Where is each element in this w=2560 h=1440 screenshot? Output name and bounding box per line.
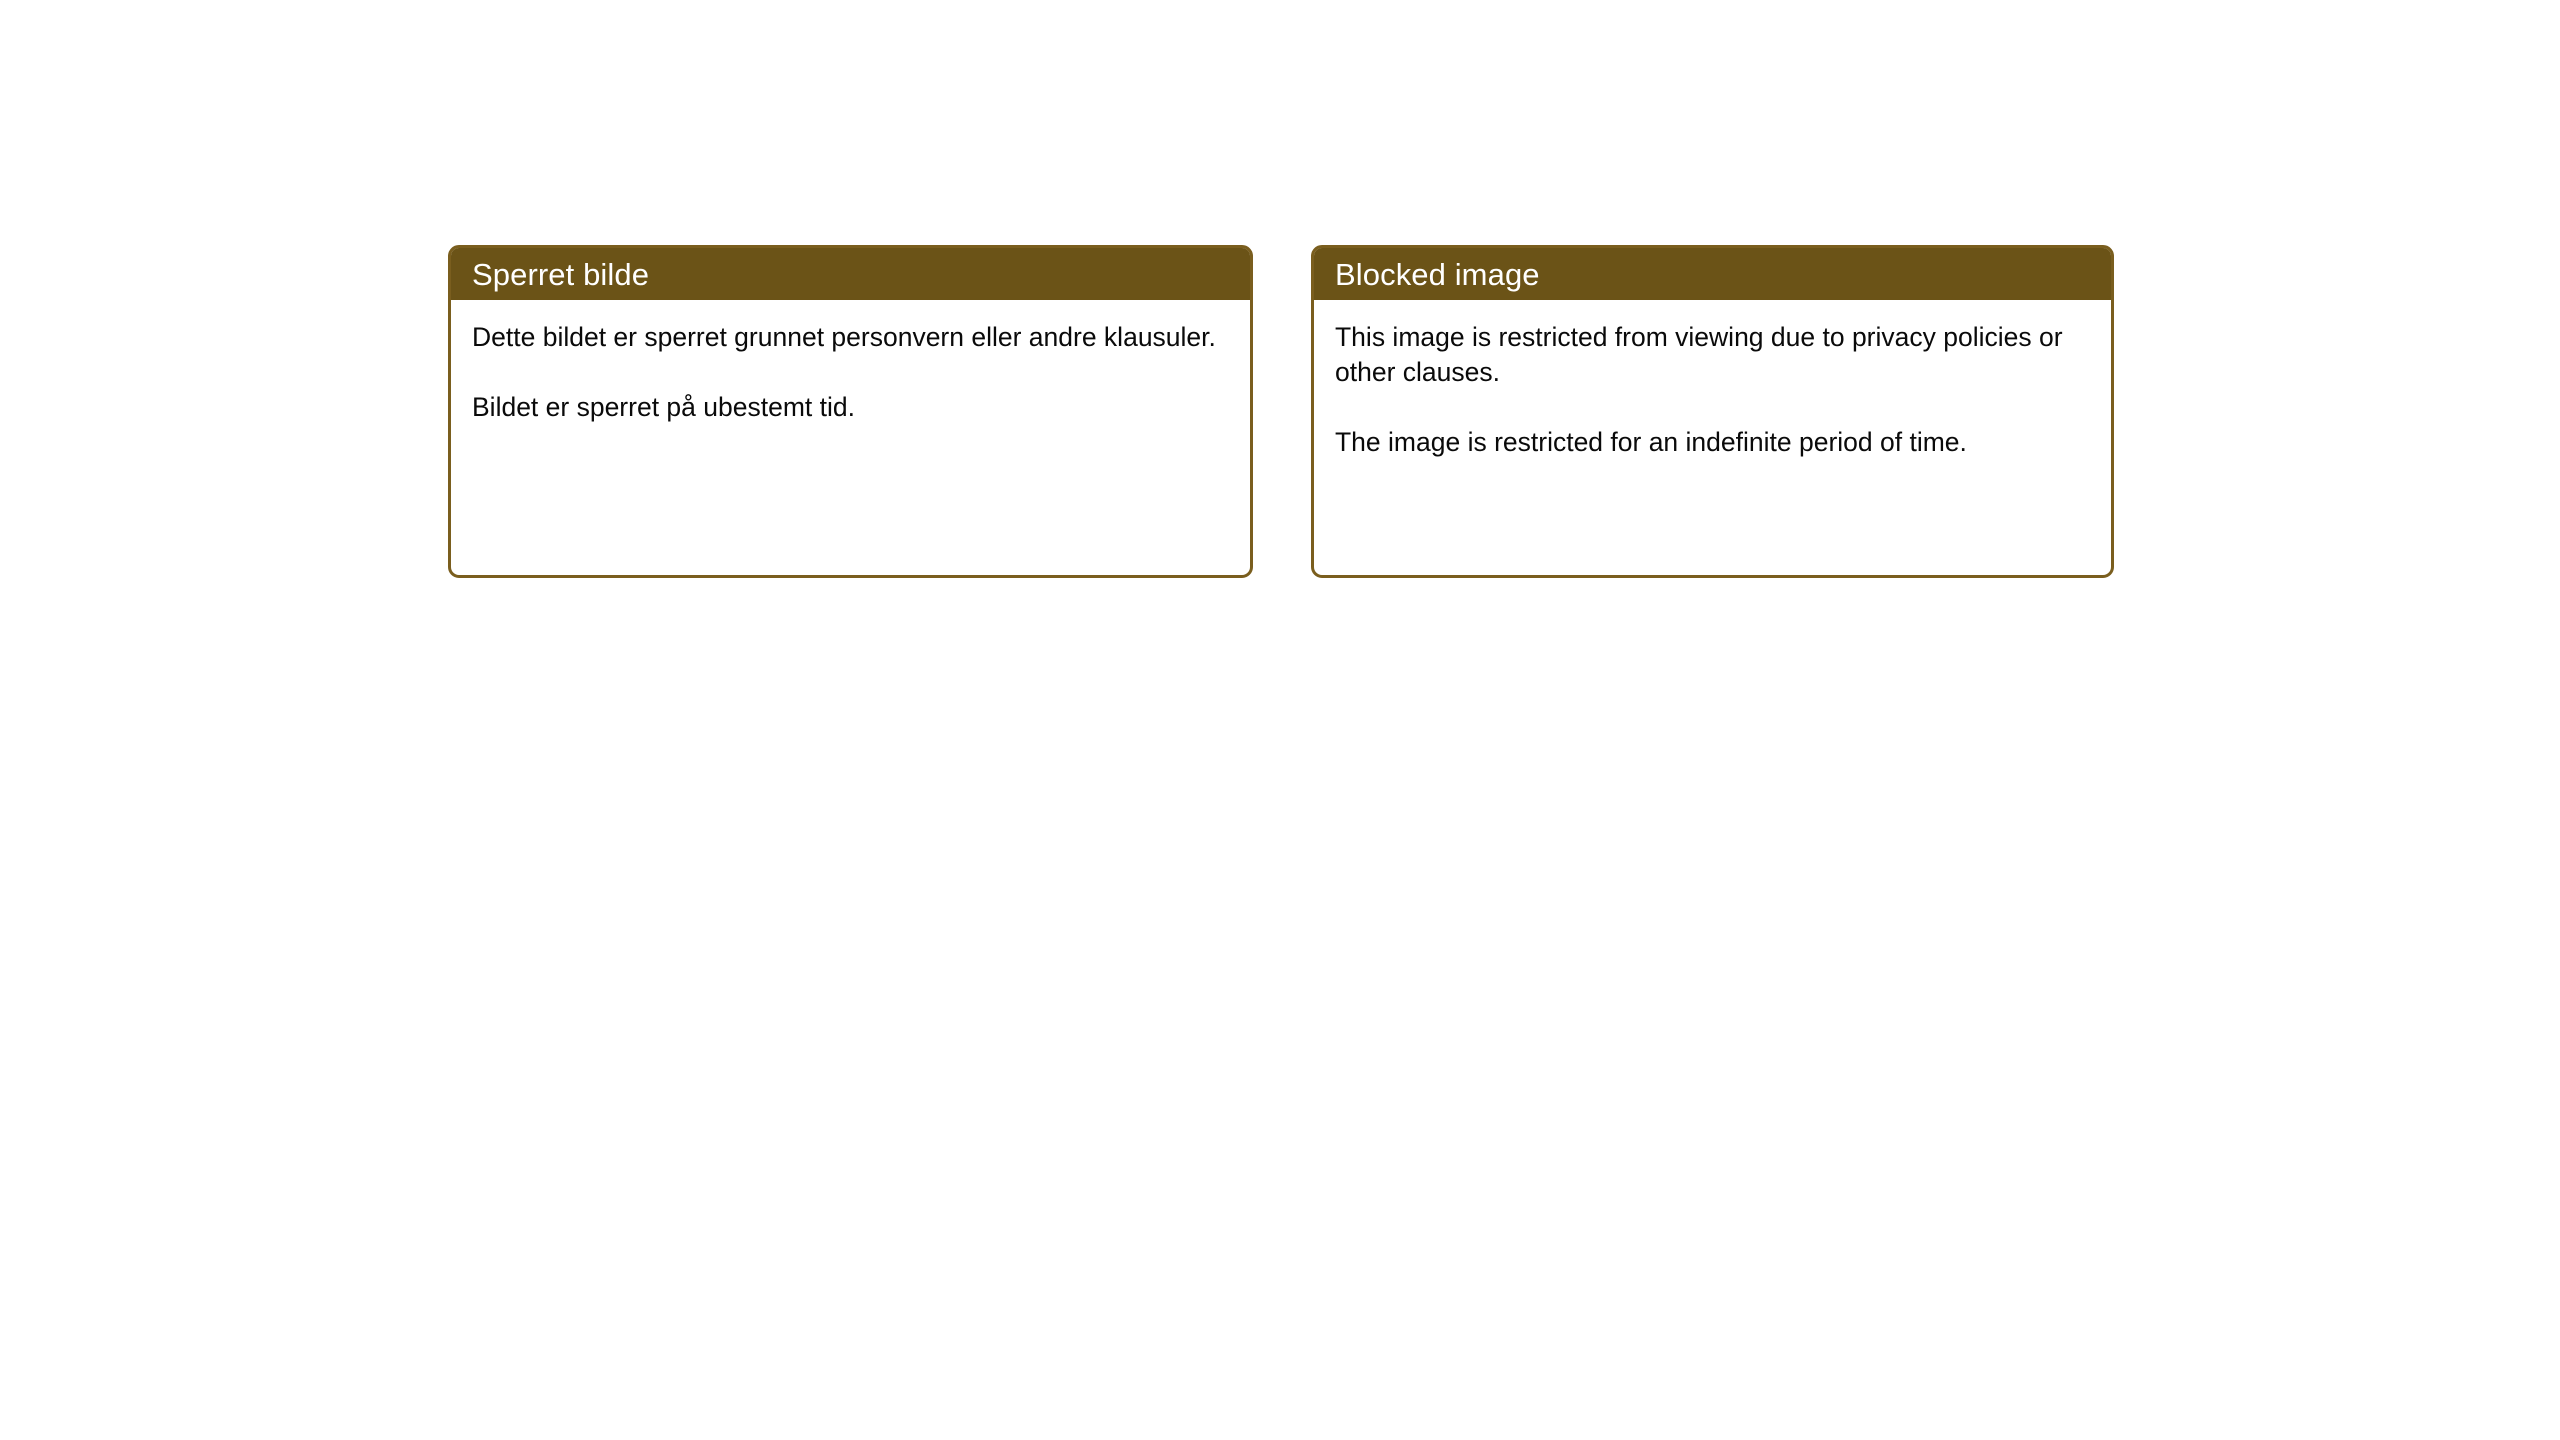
notice-card-body-no: Dette bildet er sperret grunnet personve…	[451, 300, 1250, 575]
notice-paragraph-secondary-en: The image is restricted for an indefinit…	[1335, 425, 2089, 460]
blocked-image-notice-area: Sperret bilde Dette bildet er sperret gr…	[448, 245, 2114, 578]
notice-paragraph-primary-en: This image is restricted from viewing du…	[1335, 320, 2089, 390]
notice-card-body-en: This image is restricted from viewing du…	[1314, 300, 2111, 575]
notice-paragraph-secondary-no: Bildet er sperret på ubestemt tid.	[472, 390, 1228, 425]
blocked-image-notice-card-no: Sperret bilde Dette bildet er sperret gr…	[448, 245, 1253, 578]
notice-paragraph-primary-no: Dette bildet er sperret grunnet personve…	[472, 320, 1228, 355]
notice-card-title-en: Blocked image	[1335, 259, 1540, 290]
notice-card-header-no: Sperret bilde	[451, 248, 1250, 300]
notice-card-header-en: Blocked image	[1314, 248, 2111, 300]
notice-card-title-no: Sperret bilde	[472, 259, 649, 290]
blocked-image-notice-card-en: Blocked image This image is restricted f…	[1311, 245, 2114, 578]
